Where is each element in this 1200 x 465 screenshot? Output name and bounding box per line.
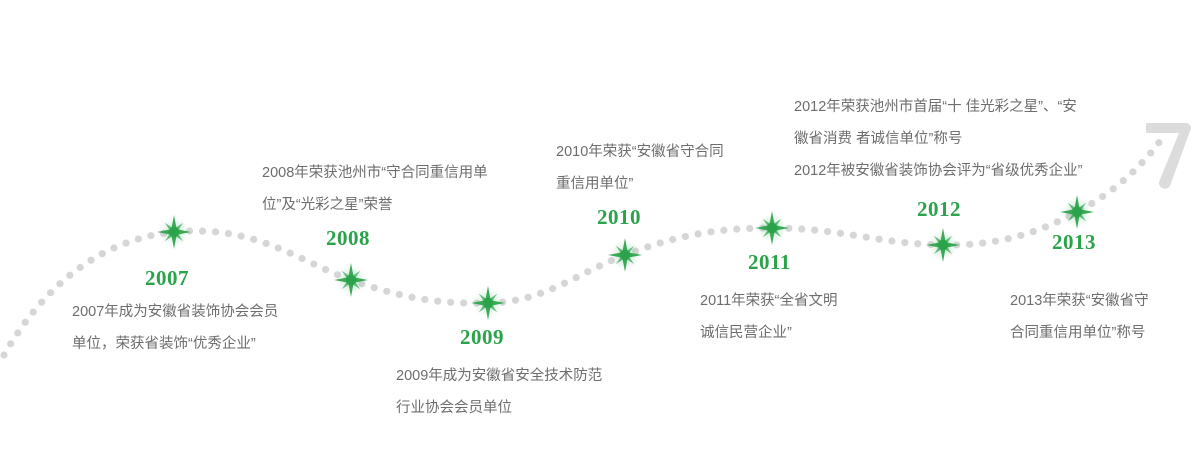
description-line: 2008年荣获池州市“守合同重信用单 [262, 157, 488, 189]
milestone-description-2012: 2012年荣获池州市首届“十 佳光彩之星”、“安徽省消费 者诚信单位”称号201… [794, 91, 1082, 187]
milestone-description-2009: 2009年成为安徽省安全技术防范行业协会会员单位 [396, 360, 602, 424]
year-label-2011[interactable]: 2011 [748, 252, 791, 273]
description-line: 单位，荣获省装饰“优秀企业” [72, 328, 278, 360]
milestone-marker-2011[interactable] [755, 211, 789, 245]
description-line: 2013年荣获“安徽省守 [1010, 285, 1149, 317]
milestone-description-2010: 2010年荣获“安徽省守合同重信用单位” [556, 136, 724, 200]
year-label-2010[interactable]: 2010 [597, 207, 641, 228]
description-line: 诚信民营企业” [700, 317, 838, 349]
description-line: 徽省消费 者诚信单位”称号 [794, 123, 1082, 155]
milestone-marker-2010[interactable] [608, 238, 642, 272]
year-label-2009[interactable]: 2009 [460, 327, 504, 348]
milestone-description-2007: 2007年成为安徽省装饰协会会员单位，荣获省装饰“优秀企业” [72, 296, 278, 360]
description-line: 2011年荣获“全省文明 [700, 285, 838, 317]
milestone-marker-2012[interactable] [926, 228, 960, 262]
description-line: 2010年荣获“安徽省守合同 [556, 136, 724, 168]
milestone-marker-2007[interactable] [157, 215, 191, 249]
milestone-marker-2009[interactable] [471, 286, 505, 320]
description-line: 合同重信用单位”称号 [1010, 317, 1149, 349]
timeline-infographic: 20072007年成为安徽省装饰协会会员单位，荣获省装饰“优秀企业”200820… [0, 0, 1200, 465]
milestone-description-2011: 2011年荣获“全省文明诚信民营企业” [700, 285, 838, 349]
year-label-2007[interactable]: 2007 [145, 268, 189, 289]
milestone-description-2008: 2008年荣获池州市“守合同重信用单位”及“光彩之星”荣誉 [262, 157, 488, 221]
description-line: 2012年荣获池州市首届“十 佳光彩之星”、“安 [794, 91, 1082, 123]
milestone-marker-2013[interactable] [1060, 195, 1094, 229]
description-line: 2007年成为安徽省装饰协会会员 [72, 296, 278, 328]
description-line: 位”及“光彩之星”荣誉 [262, 189, 488, 221]
description-line: 2012年被安徽省装饰协会评为“省级优秀企业” [794, 155, 1082, 187]
year-label-2013[interactable]: 2013 [1052, 232, 1096, 253]
milestone-description-2013: 2013年荣获“安徽省守合同重信用单位”称号 [1010, 285, 1149, 349]
description-line: 2009年成为安徽省安全技术防范 [396, 360, 602, 392]
year-label-2008[interactable]: 2008 [326, 228, 370, 249]
milestone-marker-2008[interactable] [334, 263, 368, 297]
description-line: 行业协会会员单位 [396, 392, 602, 424]
description-line: 重信用单位” [556, 168, 724, 200]
year-label-2012[interactable]: 2012 [917, 199, 961, 220]
